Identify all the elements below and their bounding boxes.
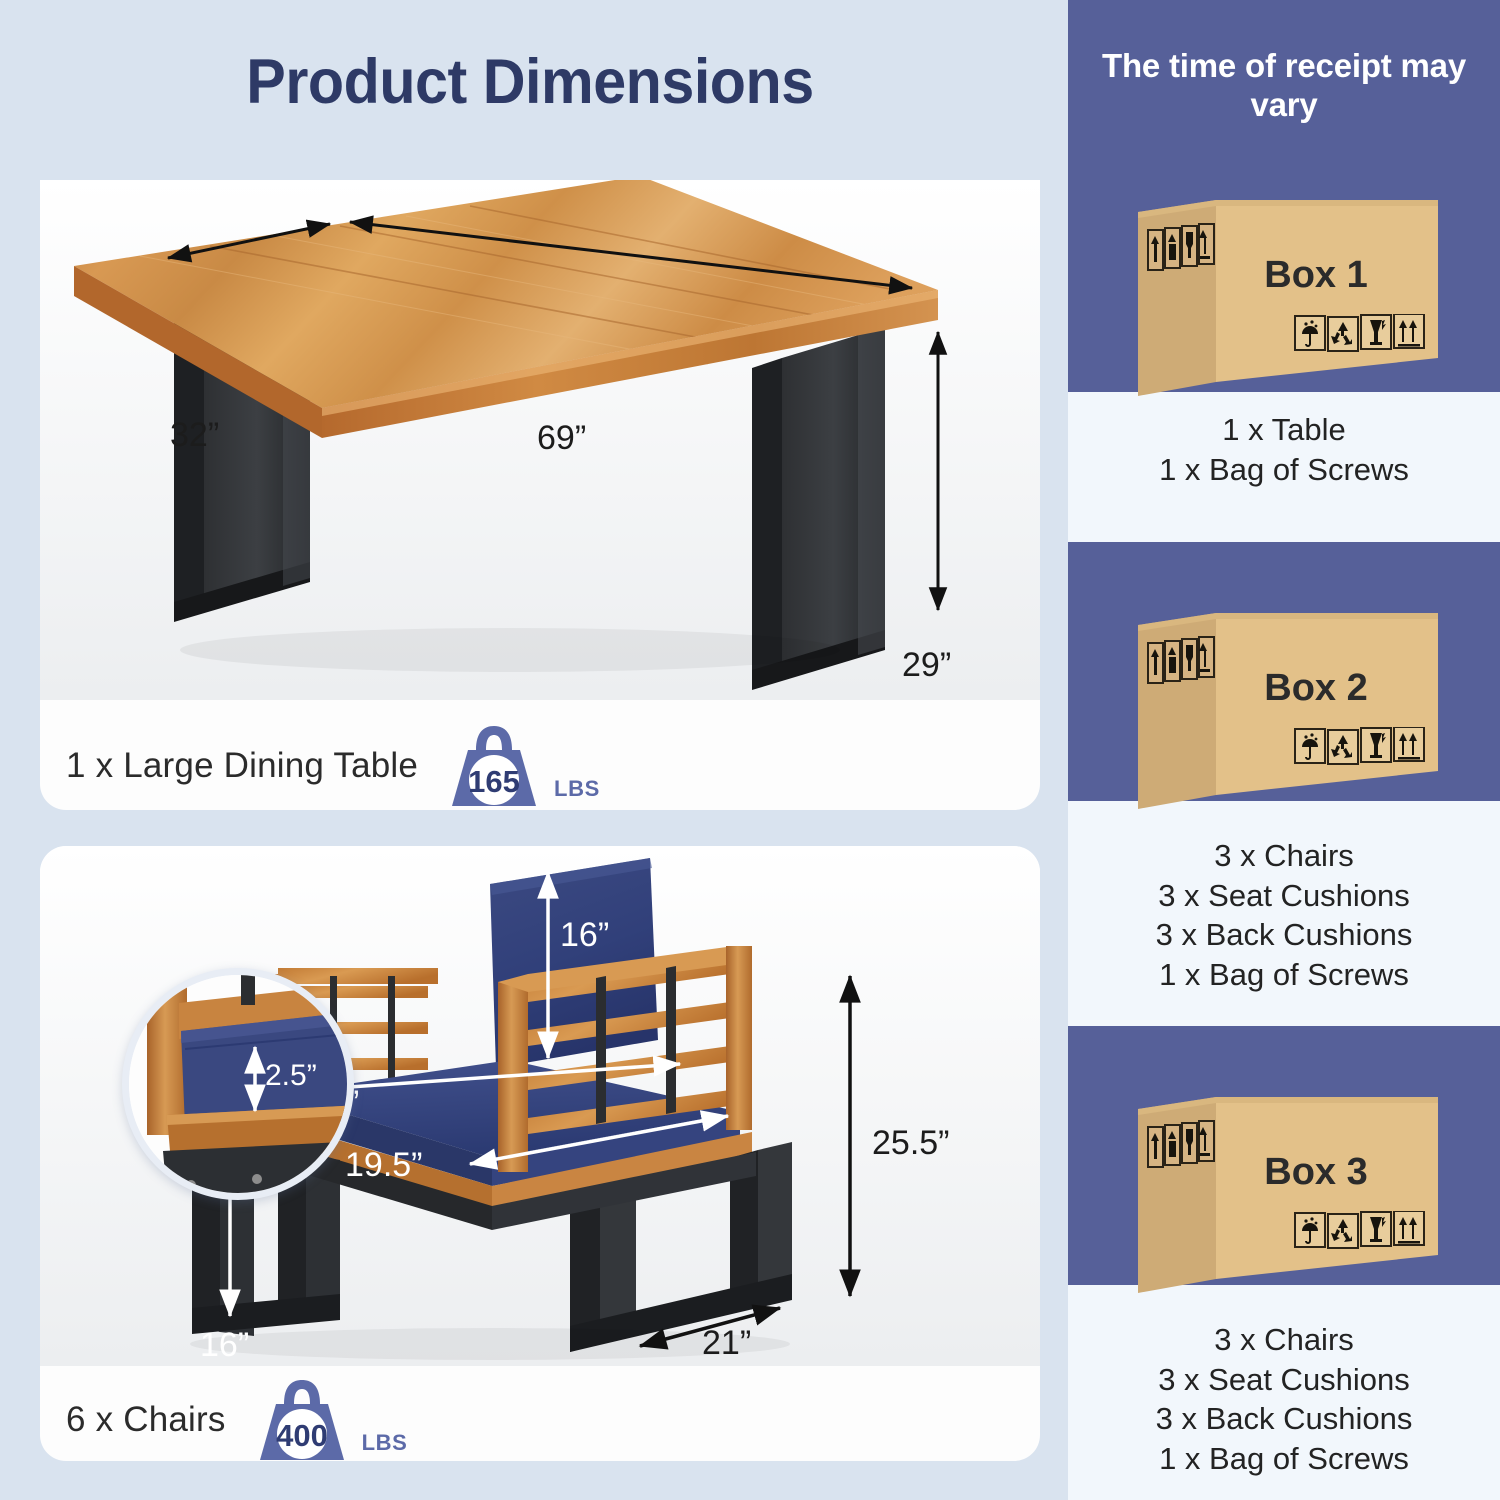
page-title: Product Dimensions (32, 46, 1028, 118)
box-content-item: 1 x Table (1068, 410, 1500, 450)
box-label: Box 1 (1216, 254, 1416, 297)
carton-illustration (1138, 1097, 1438, 1317)
box-contents-list: 1 x Table 1 x Bag of Screws (1068, 410, 1500, 489)
chair-caption-row: 6 x Chairs 400 LBS (66, 1374, 407, 1461)
dim-label-chair-depth: 21” (702, 1324, 751, 1363)
carton-illustration (1138, 613, 1438, 833)
dim-label-seat-width: 19.5” (345, 1146, 423, 1185)
box-card-divider (1068, 1026, 1500, 1035)
table-dimension-card: 32” 69” 29” 1 x Large Dining Table 165 (40, 180, 1040, 810)
shipping-panel: The time of receipt may vary (1068, 0, 1500, 1500)
table-weight-badge: 165 LBS (440, 720, 600, 810)
box-card-1: Box 1 (1068, 172, 1500, 542)
left-panel: Product Dimensions (0, 0, 1060, 1500)
chair-caption-text: 6 x Chairs (66, 1400, 226, 1440)
weight-icon: 400 (248, 1374, 356, 1461)
weight-unit-label: LBS (554, 776, 600, 802)
weight-icon: 165 (440, 720, 548, 810)
dim-label-chair-total-height: 25.5” (872, 1124, 950, 1163)
chair-weight-badge: 400 LBS (248, 1374, 408, 1461)
dim-label-table-depth: 32” (170, 416, 219, 455)
chair-dimension-card: 16” 20” 19.5” 16” 21” 25.5” (40, 846, 1040, 1461)
table-caption-text: 1 x Large Dining Table (66, 746, 418, 786)
box-label: Box 3 (1216, 1151, 1416, 1194)
shipping-symbols-front (1294, 727, 1426, 767)
dim-label-back-cushion-height: 16” (560, 916, 609, 955)
box-content-item: 3 x Back Cushions (1068, 915, 1500, 955)
box-content-item: 1 x Bag of Screws (1068, 450, 1500, 490)
box-content-item: 3 x Seat Cushions (1068, 876, 1500, 916)
carton-illustration (1138, 200, 1438, 420)
infographic-root: Product Dimensions (0, 0, 1500, 1500)
box-card-divider (1068, 542, 1500, 551)
box-card-2: Box 2 (1068, 551, 1500, 1026)
table-caption-row: 1 x Large Dining Table 165 LBS (66, 720, 600, 810)
shipping-symbols-front (1294, 314, 1426, 354)
dim-label-cushion-thickness: 2.5” (265, 1059, 317, 1093)
box-contents-list: 3 x Chairs 3 x Seat Cushions 3 x Back Cu… (1068, 1320, 1500, 1479)
shipping-panel-header: The time of receipt may vary (1068, 0, 1500, 172)
dim-label-seat-height: 16” (200, 1326, 249, 1365)
box-content-item: 3 x Chairs (1068, 836, 1500, 876)
shipping-symbols-front (1294, 1211, 1426, 1251)
box-content-item: 3 x Chairs (1068, 1320, 1500, 1360)
weight-value: 165 (468, 764, 520, 799)
box-content-item: 3 x Seat Cushions (1068, 1360, 1500, 1400)
weight-unit-label: LBS (362, 1430, 408, 1456)
dim-label-table-length: 69” (537, 419, 586, 458)
box-card-3: Box 3 (1068, 1035, 1500, 1500)
weight-value: 400 (276, 1418, 328, 1453)
box-label: Box 2 (1216, 667, 1416, 710)
box-content-item: 1 x Bag of Screws (1068, 1439, 1500, 1479)
cushion-thickness-callout: 2.5” (122, 968, 354, 1200)
shipping-panel-header-text: The time of receipt may vary (1068, 47, 1500, 124)
dim-label-table-height: 29” (902, 646, 951, 685)
box-content-item: 3 x Back Cushions (1068, 1399, 1500, 1439)
box-contents-list: 3 x Chairs 3 x Seat Cushions 3 x Back Cu… (1068, 836, 1500, 995)
box-content-item: 1 x Bag of Screws (1068, 955, 1500, 995)
